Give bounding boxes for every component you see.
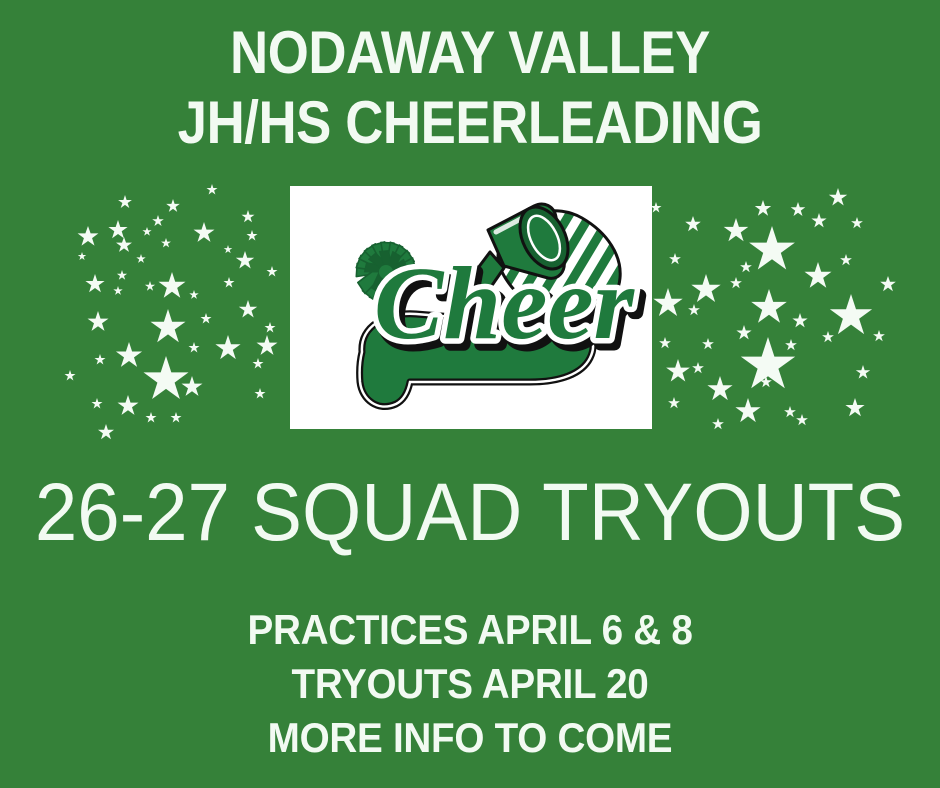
cheerleading-tryout-flyer: NODAWAY VALLEY JH/HS CHEERLEADING (0, 0, 940, 788)
cheer-logo-card: Cheer Cheer Cheer (290, 186, 652, 429)
star-cluster-right (650, 182, 912, 434)
detail-tryouts: TRYOUTS APRIL 20 (38, 657, 903, 711)
star-shapes (651, 188, 896, 429)
event-details: PRACTICES APRIL 6 & 8 TRYOUTS APRIL 20 M… (38, 603, 903, 764)
cheer-logo: Cheer Cheer Cheer (290, 186, 652, 429)
star-shapes (65, 184, 278, 439)
script-wordmark: Cheer Cheer Cheer (374, 246, 641, 367)
star-cluster-left (62, 182, 292, 434)
page-title: NODAWAY VALLEY JH/HS CHEERLEADING (56, 18, 883, 158)
detail-more-info: MORE INFO TO COME (38, 711, 903, 765)
title-line-school: NODAWAY VALLEY (56, 18, 883, 88)
svg-text:Cheer: Cheer (374, 246, 636, 361)
title-line-program: JH/HS CHEERLEADING (56, 88, 883, 158)
squad-tryouts-heading: 26-27 SQUAD TRYOUTS (33, 472, 907, 554)
detail-practices: PRACTICES APRIL 6 & 8 (38, 603, 903, 657)
